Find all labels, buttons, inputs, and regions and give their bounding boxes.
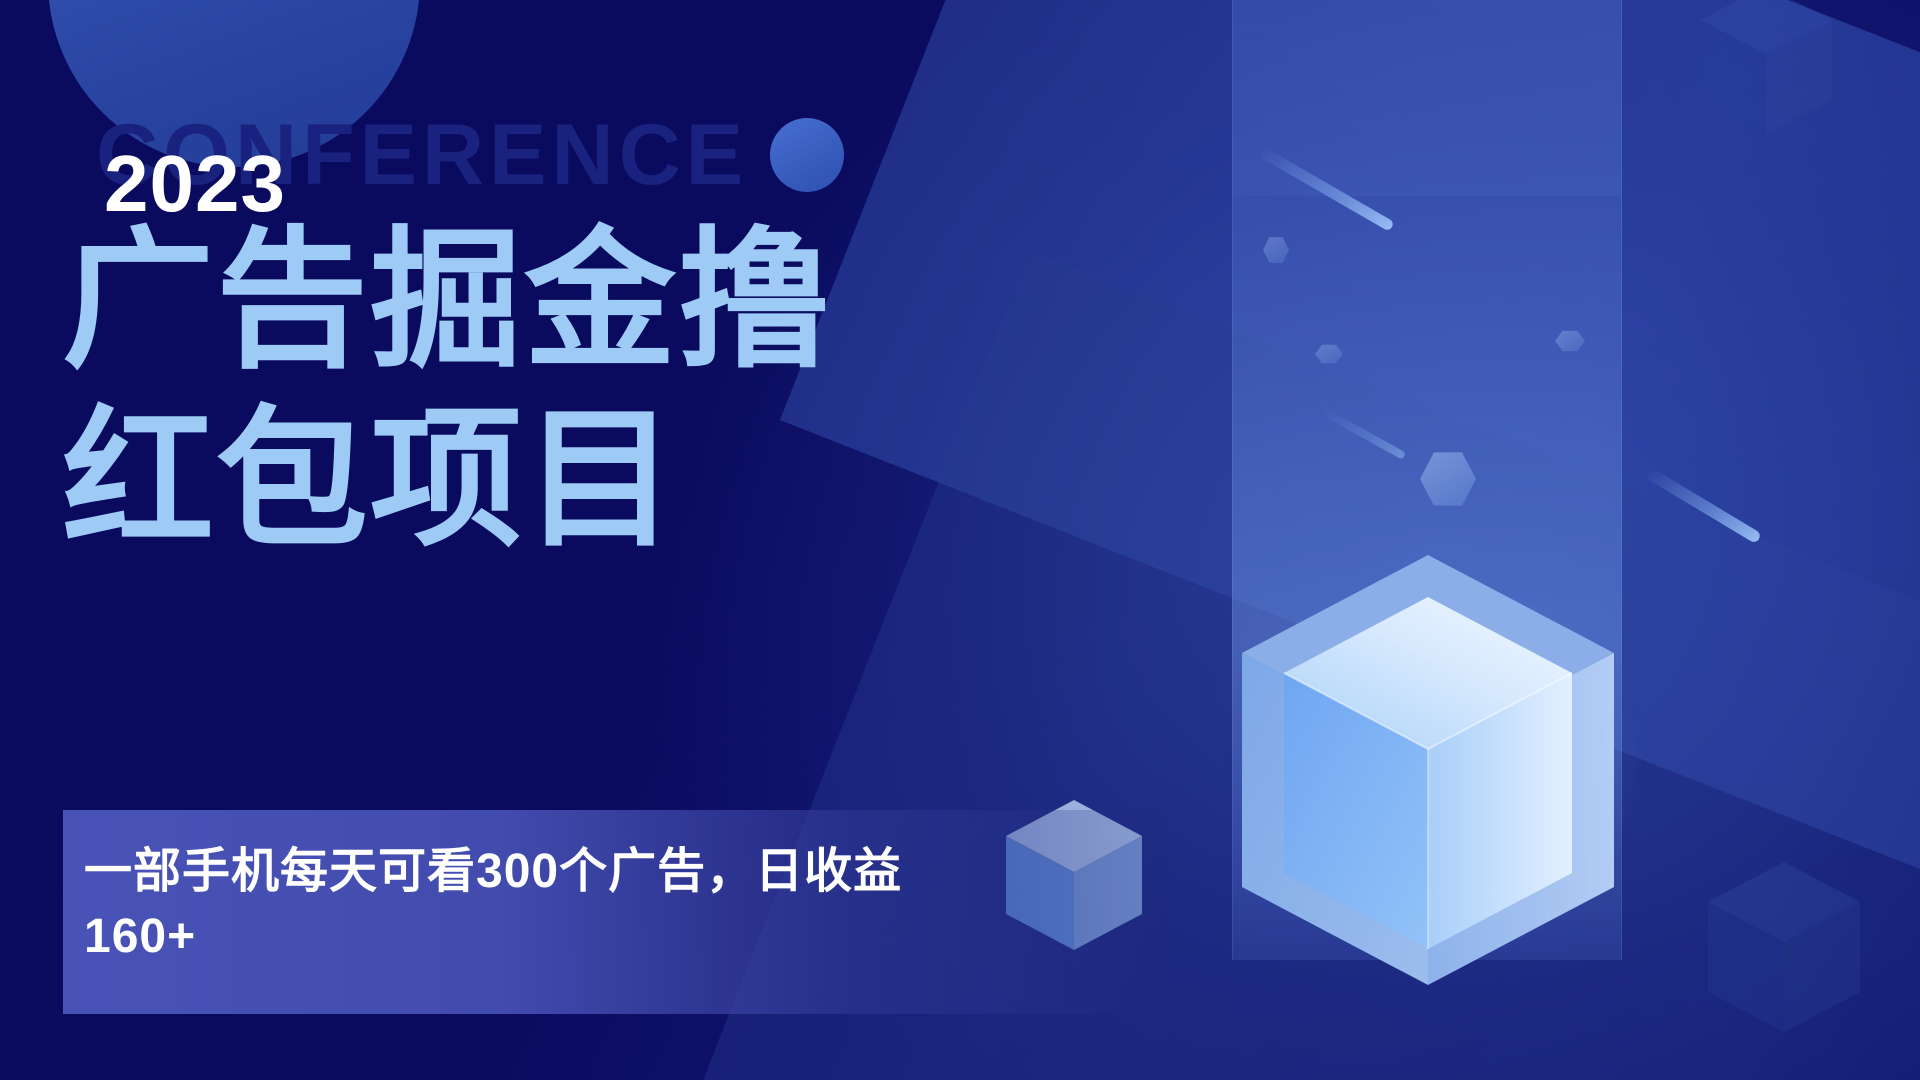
- isometric-cube-icon: [1242, 555, 1614, 985]
- comet-streak-icon: [1646, 468, 1762, 544]
- page-title: 广告掘金撸 红包项目: [62, 212, 1062, 571]
- subtitle-text: 一部手机每天可看300个广告，日收益160+: [84, 840, 914, 970]
- headline-line-1: 广告掘金撸: [62, 212, 1062, 391]
- glass-column-cap-icon: [1232, 0, 1622, 196]
- comet-streak-icon: [1322, 408, 1406, 460]
- glass-column-icon: [1232, 0, 1622, 960]
- hexagon-particle-icon: [1263, 236, 1289, 264]
- comet-streak-icon: [1259, 147, 1394, 232]
- hexagon-particle-icon: [1500, 790, 1530, 812]
- cube-glow-icon: [1230, 600, 1640, 960]
- hexagon-particle-icon: [1555, 330, 1585, 352]
- isometric-cube-faint-icon: [1700, 0, 1832, 134]
- banner-canvas: CONFERENCE 2023 广告掘金撸 红包项目 一部手机每天可看300个广…: [0, 0, 1920, 1080]
- hexagon-particle-icon: [1420, 450, 1476, 508]
- isometric-cube-faint-icon: [1708, 862, 1860, 1032]
- circle-decoration-small-icon: [770, 118, 844, 192]
- hexagon-particle-icon: [1315, 344, 1343, 364]
- headline-line-2: 红包项目: [62, 391, 1062, 570]
